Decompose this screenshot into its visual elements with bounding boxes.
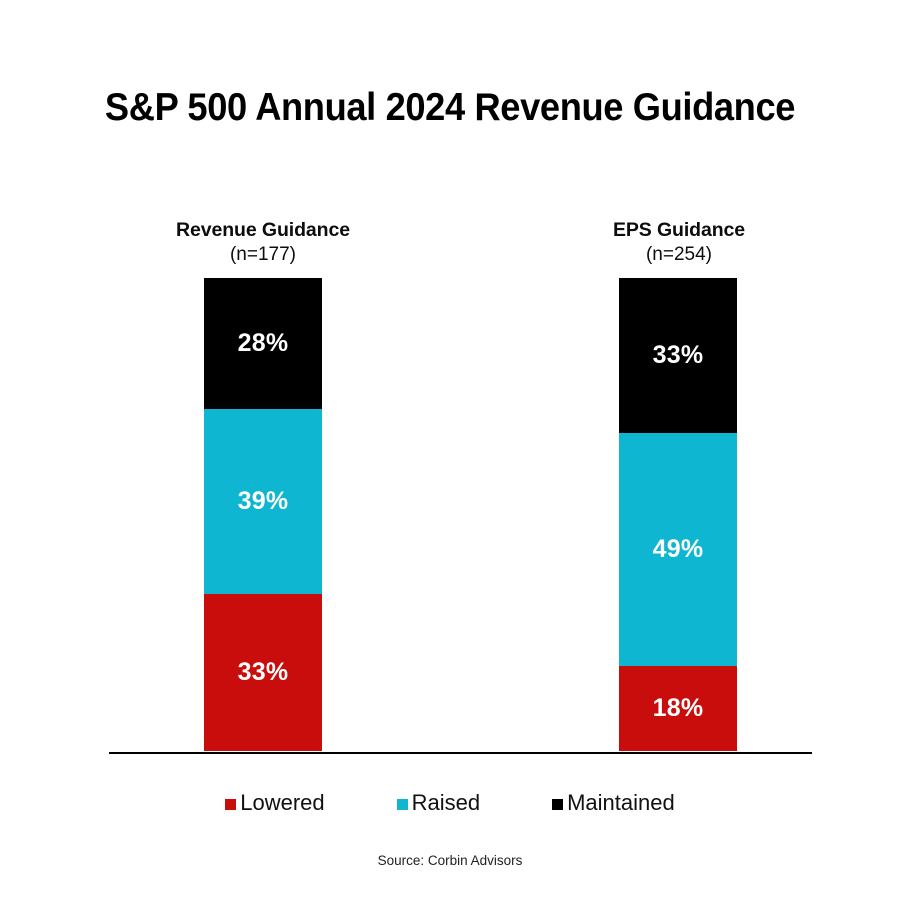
- legend-item-label: Raised: [412, 791, 480, 815]
- bar-segment-maintained[interactable]: 33%: [619, 278, 737, 433]
- bar-segment-maintained[interactable]: 28%: [204, 278, 322, 409]
- bar-segment-label: 28%: [238, 331, 289, 356]
- source-note: Source: Corbin Advisors: [0, 853, 900, 868]
- bar-segment-label: 39%: [238, 489, 289, 514]
- legend-item-lowered[interactable]: Lowered: [225, 791, 324, 815]
- x-axis-line: [109, 752, 812, 754]
- plot-area: 28% 39% 33% 33% 49% 18%: [0, 0, 900, 900]
- bar-segment-raised[interactable]: 49%: [619, 433, 737, 666]
- bar-segment-raised[interactable]: 39%: [204, 409, 322, 594]
- chart-page: S&P 500 Annual 2024 Revenue Guidance Rev…: [0, 0, 900, 900]
- legend-item-label: Maintained: [567, 791, 675, 815]
- legend-item-label: Lowered: [240, 791, 324, 815]
- bar-segment-label: 49%: [653, 537, 704, 562]
- square-marker-icon: [225, 799, 236, 810]
- chart-legend: Lowered Raised Maintained: [0, 791, 900, 815]
- stacked-bar-eps-guidance[interactable]: 33% 49% 18%: [619, 278, 737, 751]
- bar-segment-label: 33%: [653, 343, 704, 368]
- stacked-bar-revenue-guidance[interactable]: 28% 39% 33%: [204, 278, 322, 751]
- bar-segment-label: 33%: [238, 660, 289, 685]
- bar-segment-lowered[interactable]: 18%: [619, 666, 737, 751]
- square-marker-icon: [397, 799, 408, 810]
- square-marker-icon: [552, 799, 563, 810]
- bar-segment-lowered[interactable]: 33%: [204, 594, 322, 751]
- legend-item-raised[interactable]: Raised: [397, 791, 480, 815]
- legend-item-maintained[interactable]: Maintained: [552, 791, 675, 815]
- bar-segment-label: 18%: [653, 696, 704, 721]
